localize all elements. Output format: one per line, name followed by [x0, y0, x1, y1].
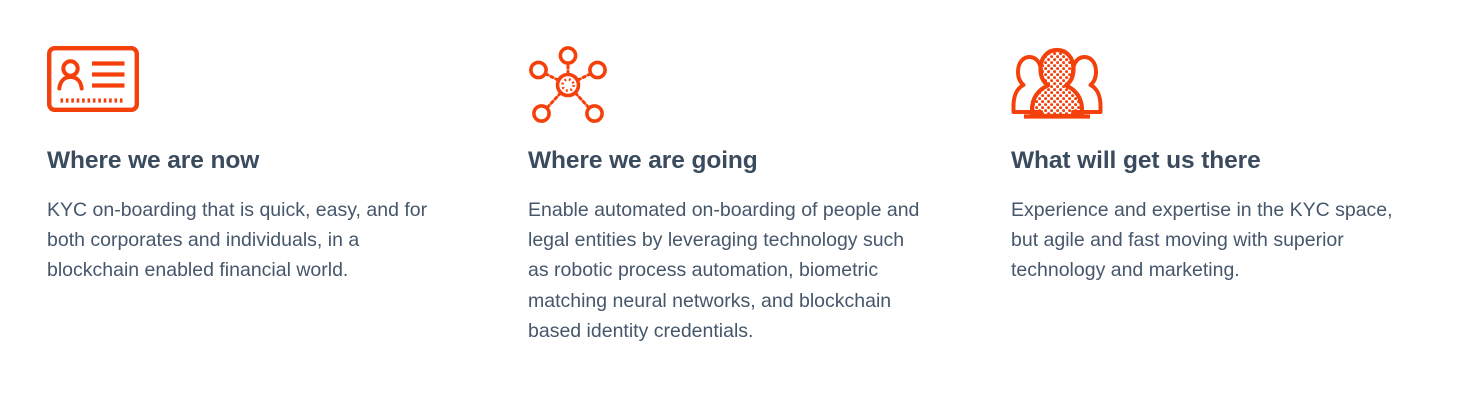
people-group-icon: [1011, 0, 1427, 112]
feature-body-text: Enable automated on-boarding of people a…: [528, 176, 928, 346]
feature-body-text: Experience and expertise in the KYC spac…: [1011, 176, 1415, 286]
network-nodes-icon: [528, 0, 935, 112]
id-card-icon: [47, 0, 452, 112]
feature-heading: Where we are going: [528, 112, 935, 176]
feature-heading: What will get us there: [1011, 112, 1427, 176]
feature-heading: Where we are now: [47, 112, 452, 176]
feature-columns-section: Where we are now KYC on-boarding that is…: [0, 0, 1457, 406]
feature-column-where-we-are-now: Where we are now KYC on-boarding that is…: [0, 0, 482, 286]
feature-body-text: KYC on-boarding that is quick, easy, and…: [47, 176, 452, 286]
feature-column-where-we-are-going: Where we are going Enable automated on-b…: [482, 0, 965, 346]
feature-column-what-will-get-us-there: What will get us there Experience and ex…: [965, 0, 1457, 286]
